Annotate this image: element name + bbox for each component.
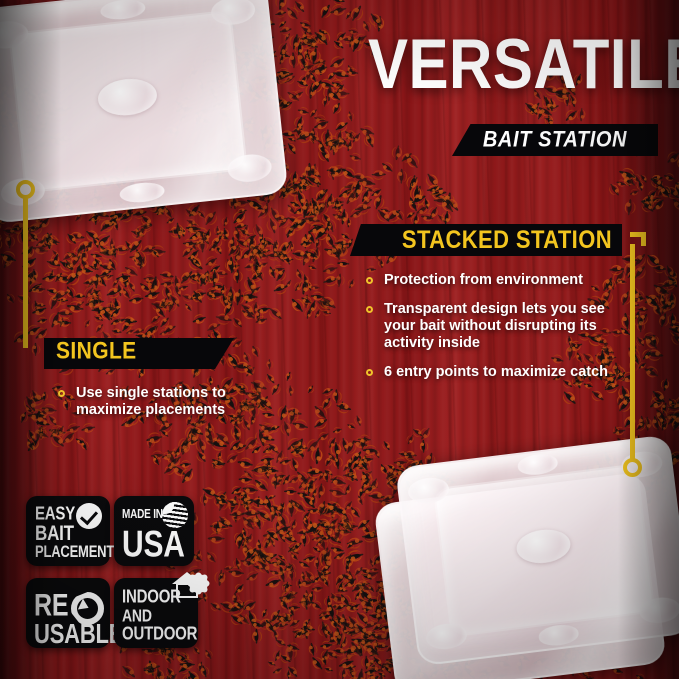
edge-vignette [0,0,679,679]
infographic-canvas: VERSATILE BAIT STATION STACKED STATION P… [0,0,679,679]
